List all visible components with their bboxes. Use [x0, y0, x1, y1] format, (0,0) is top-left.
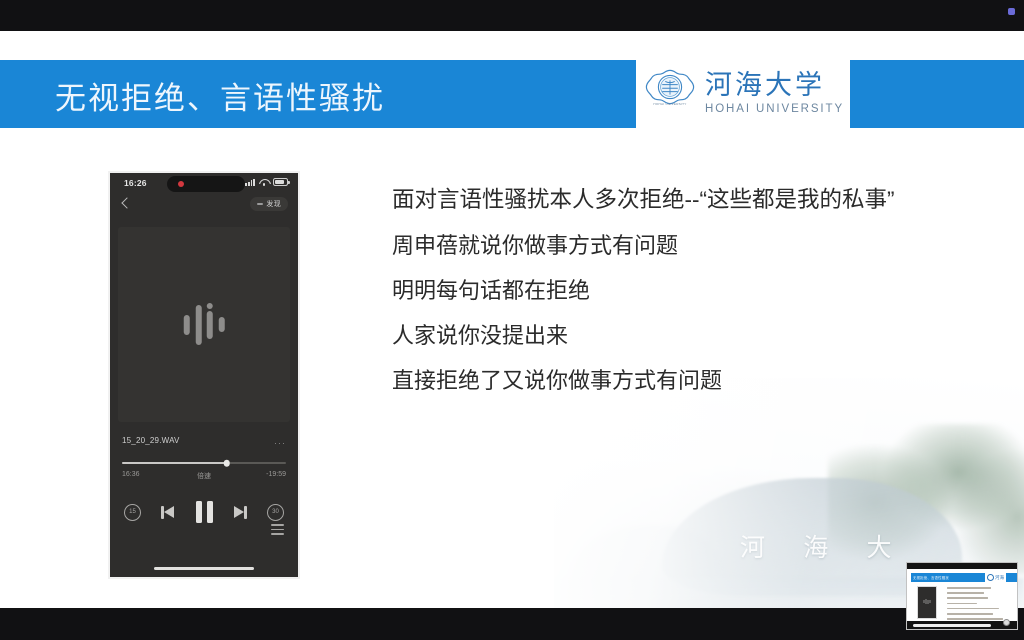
phone-status-bar: 16:26	[110, 173, 298, 195]
logo-english-name: HOHAI UNIVERSITY	[705, 104, 844, 116]
next-track-button[interactable]	[233, 506, 247, 519]
playback-speed-label[interactable]: 倍速	[197, 471, 211, 481]
back-chevron-icon[interactable]	[121, 197, 132, 208]
progress-track[interactable]	[122, 462, 286, 464]
photo-rock-secondary	[572, 526, 722, 600]
discover-pill-button[interactable]: 发现	[250, 197, 288, 211]
phone-screen: 16:26 发现	[110, 173, 298, 577]
wifi-icon	[259, 178, 269, 186]
phone-waveform-panel	[118, 227, 290, 422]
home-indicator-bar	[154, 567, 254, 570]
pip-bottom-bar	[907, 621, 1017, 629]
photo-engraved-text: 河 海 大	[740, 528, 908, 564]
hohai-seal-icon: HOHAI UNIVERSITY	[644, 68, 696, 120]
progress-time-labels: 16:36 倍速 -19:59	[122, 471, 286, 481]
remaining-time: -19:59	[266, 471, 286, 478]
waveform-dot	[207, 303, 213, 309]
discover-pill-label: 发现	[266, 199, 281, 209]
logo-wordmark: 河海大学 HOHAI UNIVERSITY	[705, 72, 844, 116]
pip-banner-right	[1006, 573, 1018, 582]
pip-slide-canvas: 无视拒绝、言语性骚扰 河海	[907, 569, 1017, 623]
pip-phone-screenshot	[917, 586, 937, 619]
phone-nav-row: 发现	[110, 195, 298, 221]
audio-waveform-icon	[184, 294, 225, 356]
slide-body-text: 面对言语性骚扰本人多次拒绝--“这些都是我的私事” 周申蓓就说你做事方式有问题 …	[392, 189, 1002, 415]
elapsed-time: 16:36	[122, 471, 140, 478]
slide-title: 无视拒绝、言语性骚扰	[55, 73, 385, 118]
playback-controls: 15 30	[124, 497, 284, 527]
previous-track-button[interactable]	[161, 506, 175, 519]
pip-home-indicator	[913, 624, 991, 626]
pip-seal-icon	[987, 574, 994, 581]
playback-progress[interactable]: 16:36 倍速 -19:59	[122, 462, 286, 481]
phone-system-icons	[245, 178, 288, 186]
university-logo: HOHAI UNIVERSITY 河海大学 HOHAI UNIVERSITY	[636, 60, 850, 128]
pip-logo-label: 河海	[995, 575, 1004, 581]
photo-trees	[828, 424, 1024, 574]
recording-dot-icon	[178, 181, 184, 187]
body-line-3: 明明每句话都在拒绝	[392, 280, 1002, 302]
mouse-cursor-icon	[1003, 619, 1010, 626]
more-options-icon[interactable]: ···	[274, 438, 286, 448]
phone-clock: 16:26	[124, 178, 147, 188]
body-line-2: 周申蓓就说你做事方式有问题	[392, 235, 1002, 257]
pip-body-text-lines	[947, 587, 1013, 623]
battery-icon	[273, 178, 288, 186]
pause-button[interactable]	[196, 501, 213, 523]
signal-icon	[245, 178, 255, 186]
body-line-5: 直接拒绝了又说你做事方式有问题	[392, 370, 1002, 392]
logo-chinese-name: 河海大学	[705, 72, 844, 99]
audio-filename: 15_20_29.WAV	[122, 436, 286, 445]
pill-dash-icon	[257, 203, 263, 205]
body-line-1: 面对言语性骚扰本人多次拒绝--“这些都是我的私事”	[392, 189, 1002, 212]
progress-knob[interactable]	[224, 460, 231, 467]
pip-university-logo: 河海	[986, 573, 1006, 582]
pip-waveform-icon	[924, 599, 931, 604]
rewind-seconds-label: 15	[129, 509, 136, 515]
progress-fill	[122, 462, 227, 464]
slide-thumbnail-preview[interactable]: 无视拒绝、言语性骚扰 河海	[906, 562, 1018, 630]
presentation-slide: 河 海 大 无视拒绝、言语性骚扰 HOHAI UNIVERSITY 河海大学	[0, 31, 1024, 608]
recording-status-dot	[1008, 8, 1015, 15]
phone-screenshot: 16:26 发现	[108, 171, 300, 579]
rewind-15-button[interactable]: 15	[124, 504, 141, 521]
bottom-letterbox-bar	[0, 608, 1024, 640]
svg-text:HOHAI UNIVERSITY: HOHAI UNIVERSITY	[653, 102, 686, 106]
forward-seconds-label: 30	[272, 509, 279, 515]
body-line-4: 人家说你没提出来	[392, 325, 1002, 347]
pip-title-text: 无视拒绝、言语性骚扰	[913, 575, 949, 580]
playlist-icon[interactable]	[271, 524, 284, 535]
dynamic-island	[167, 176, 245, 192]
top-letterbox-bar	[0, 0, 1024, 31]
phone-track-meta: 15_20_29.WAV ···	[122, 436, 286, 452]
forward-30-button[interactable]: 30	[267, 504, 284, 521]
screen-share-frame: 河 海 大 无视拒绝、言语性骚扰 HOHAI UNIVERSITY 河海大学	[0, 0, 1024, 640]
